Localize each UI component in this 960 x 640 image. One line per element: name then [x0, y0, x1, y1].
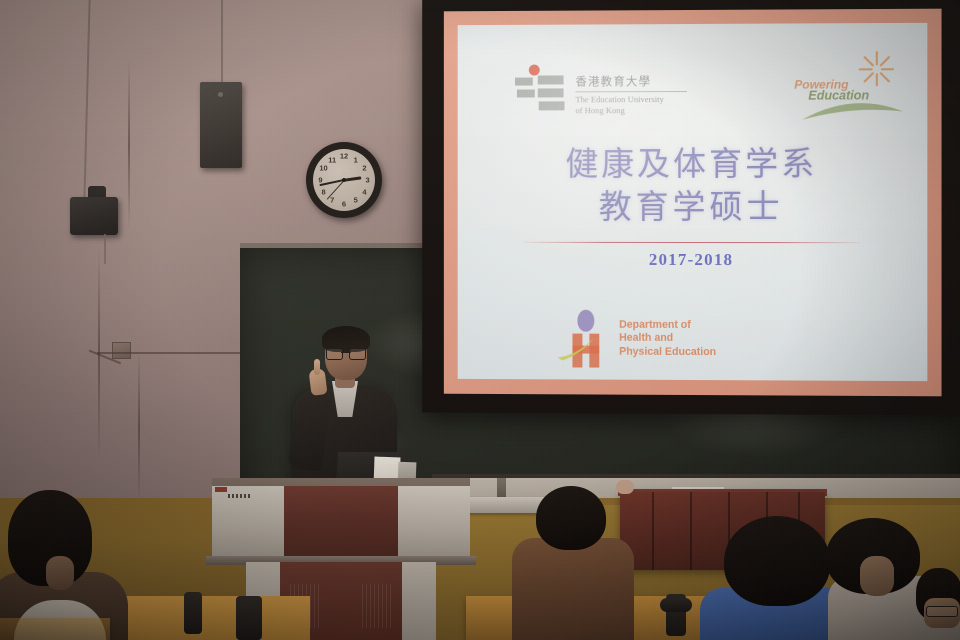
lectern-side-panel-right — [398, 486, 470, 560]
slide-title: 健康及体育学系 教育学硕士 — [458, 142, 928, 229]
clock-numeral: 11 — [328, 155, 336, 164]
clock-face: . 12 1 2 3 4 5 6 7 8 9 10 11 — [313, 149, 375, 211]
swoosh-icon — [557, 336, 613, 362]
eduhk-chinese-name: 香港教育大學 — [575, 73, 687, 89]
clock-hour-hand — [344, 176, 361, 181]
audience-member-brown-jacket-head — [536, 486, 606, 550]
eduhk-divider — [575, 91, 687, 92]
audience-member-right-glasses-icon — [926, 606, 958, 617]
bench-seat — [0, 618, 110, 640]
wall-conduit — [97, 352, 247, 354]
speaker-cable — [104, 234, 106, 264]
lectern-vent-right — [362, 584, 392, 628]
eduhk-logo: 香港教育大學 The Education University of Hong … — [515, 64, 687, 115]
screen-border: 香港教育大學 The Education University of Hong … — [444, 9, 942, 397]
wall-cable-upper — [128, 60, 130, 230]
speaker-cable — [221, 0, 223, 84]
department-line-2: Health and — [619, 332, 716, 346]
projection-screen: 香港教育大學 The Education University of Hong … — [422, 0, 960, 416]
bench-bracket — [184, 592, 202, 634]
department-logo: Department of Health and Physical Educat… — [561, 310, 717, 368]
slide-title-line-1: 健康及体育学系 — [458, 142, 928, 186]
bench-bracket — [236, 596, 262, 640]
clock-numeral: 5 — [354, 196, 358, 205]
audience-member-brown-jacket-hand — [616, 480, 634, 494]
department-logo-mark — [561, 310, 611, 368]
lecturer-index-finger — [314, 359, 320, 375]
audience-member-grey-jacket-face — [860, 556, 894, 596]
audience-member-foreground-left-face — [46, 556, 74, 590]
eduhk-red-dot-icon — [529, 65, 540, 76]
lecturer-glasses-icon — [326, 348, 366, 359]
clock-numeral: 7 — [330, 196, 334, 205]
eduhk-logo-mark — [515, 64, 567, 112]
department-logo-text: Department of Health and Physical Educat… — [619, 319, 716, 360]
lecture-hall-scene: 香港教育大學 The Education University of Hong … — [0, 0, 960, 640]
presentation-slide: 香港教育大學 The Education University of Hong … — [458, 23, 928, 381]
eduhk-english-line-1: The Education University — [575, 94, 687, 105]
lectern-label — [228, 494, 250, 498]
eduhk-logo-text: 香港教育大學 The Education University of Hong … — [575, 64, 687, 115]
green-arc-icon — [800, 95, 905, 121]
powering-education-logo: Powering Education — [794, 53, 905, 118]
clock-numeral: 12 — [340, 152, 348, 161]
clock-brand-text: . — [343, 170, 344, 175]
lectern-wood-panel — [284, 486, 398, 560]
wall-crack — [138, 352, 140, 502]
clock-numeral: 8 — [321, 187, 325, 196]
lectern-red-tab — [215, 487, 227, 492]
figure-head-icon — [577, 310, 594, 332]
speaker-screw-icon — [218, 92, 223, 97]
clock-numeral: 10 — [319, 164, 327, 173]
department-line-3: Physical Education — [619, 345, 716, 359]
lectern-base-side-right — [402, 562, 436, 640]
wall-clock: . 12 1 2 3 4 5 6 7 8 9 10 11 — [306, 142, 382, 218]
slide-title-divider — [523, 242, 861, 244]
clock-numeral: 6 — [342, 199, 346, 208]
bench-backrest — [100, 596, 310, 640]
shelf-post — [497, 478, 506, 498]
clock-numeral: 1 — [354, 155, 358, 164]
wall-speaker-lower-left — [70, 197, 118, 235]
clock-numeral: 4 — [362, 187, 366, 196]
department-line-1: Department of — [619, 319, 716, 333]
clock-numeral: 2 — [362, 164, 366, 173]
eduhk-english-line-2: of Hong Kong — [575, 105, 687, 116]
clock-numeral: 3 — [365, 176, 369, 185]
clock-center-pin — [342, 178, 346, 182]
audience-member-blue-jacket-head — [724, 516, 830, 606]
slide-title-line-2: 教育学硕士 — [458, 185, 928, 228]
starburst-icon — [857, 49, 897, 89]
slide-year: 2017-2018 — [458, 250, 928, 271]
bench-bracket-cap — [660, 598, 692, 612]
audience-member-brown-jacket-body — [512, 538, 634, 640]
lectern-face — [212, 486, 470, 560]
wall-outlet — [112, 342, 131, 359]
